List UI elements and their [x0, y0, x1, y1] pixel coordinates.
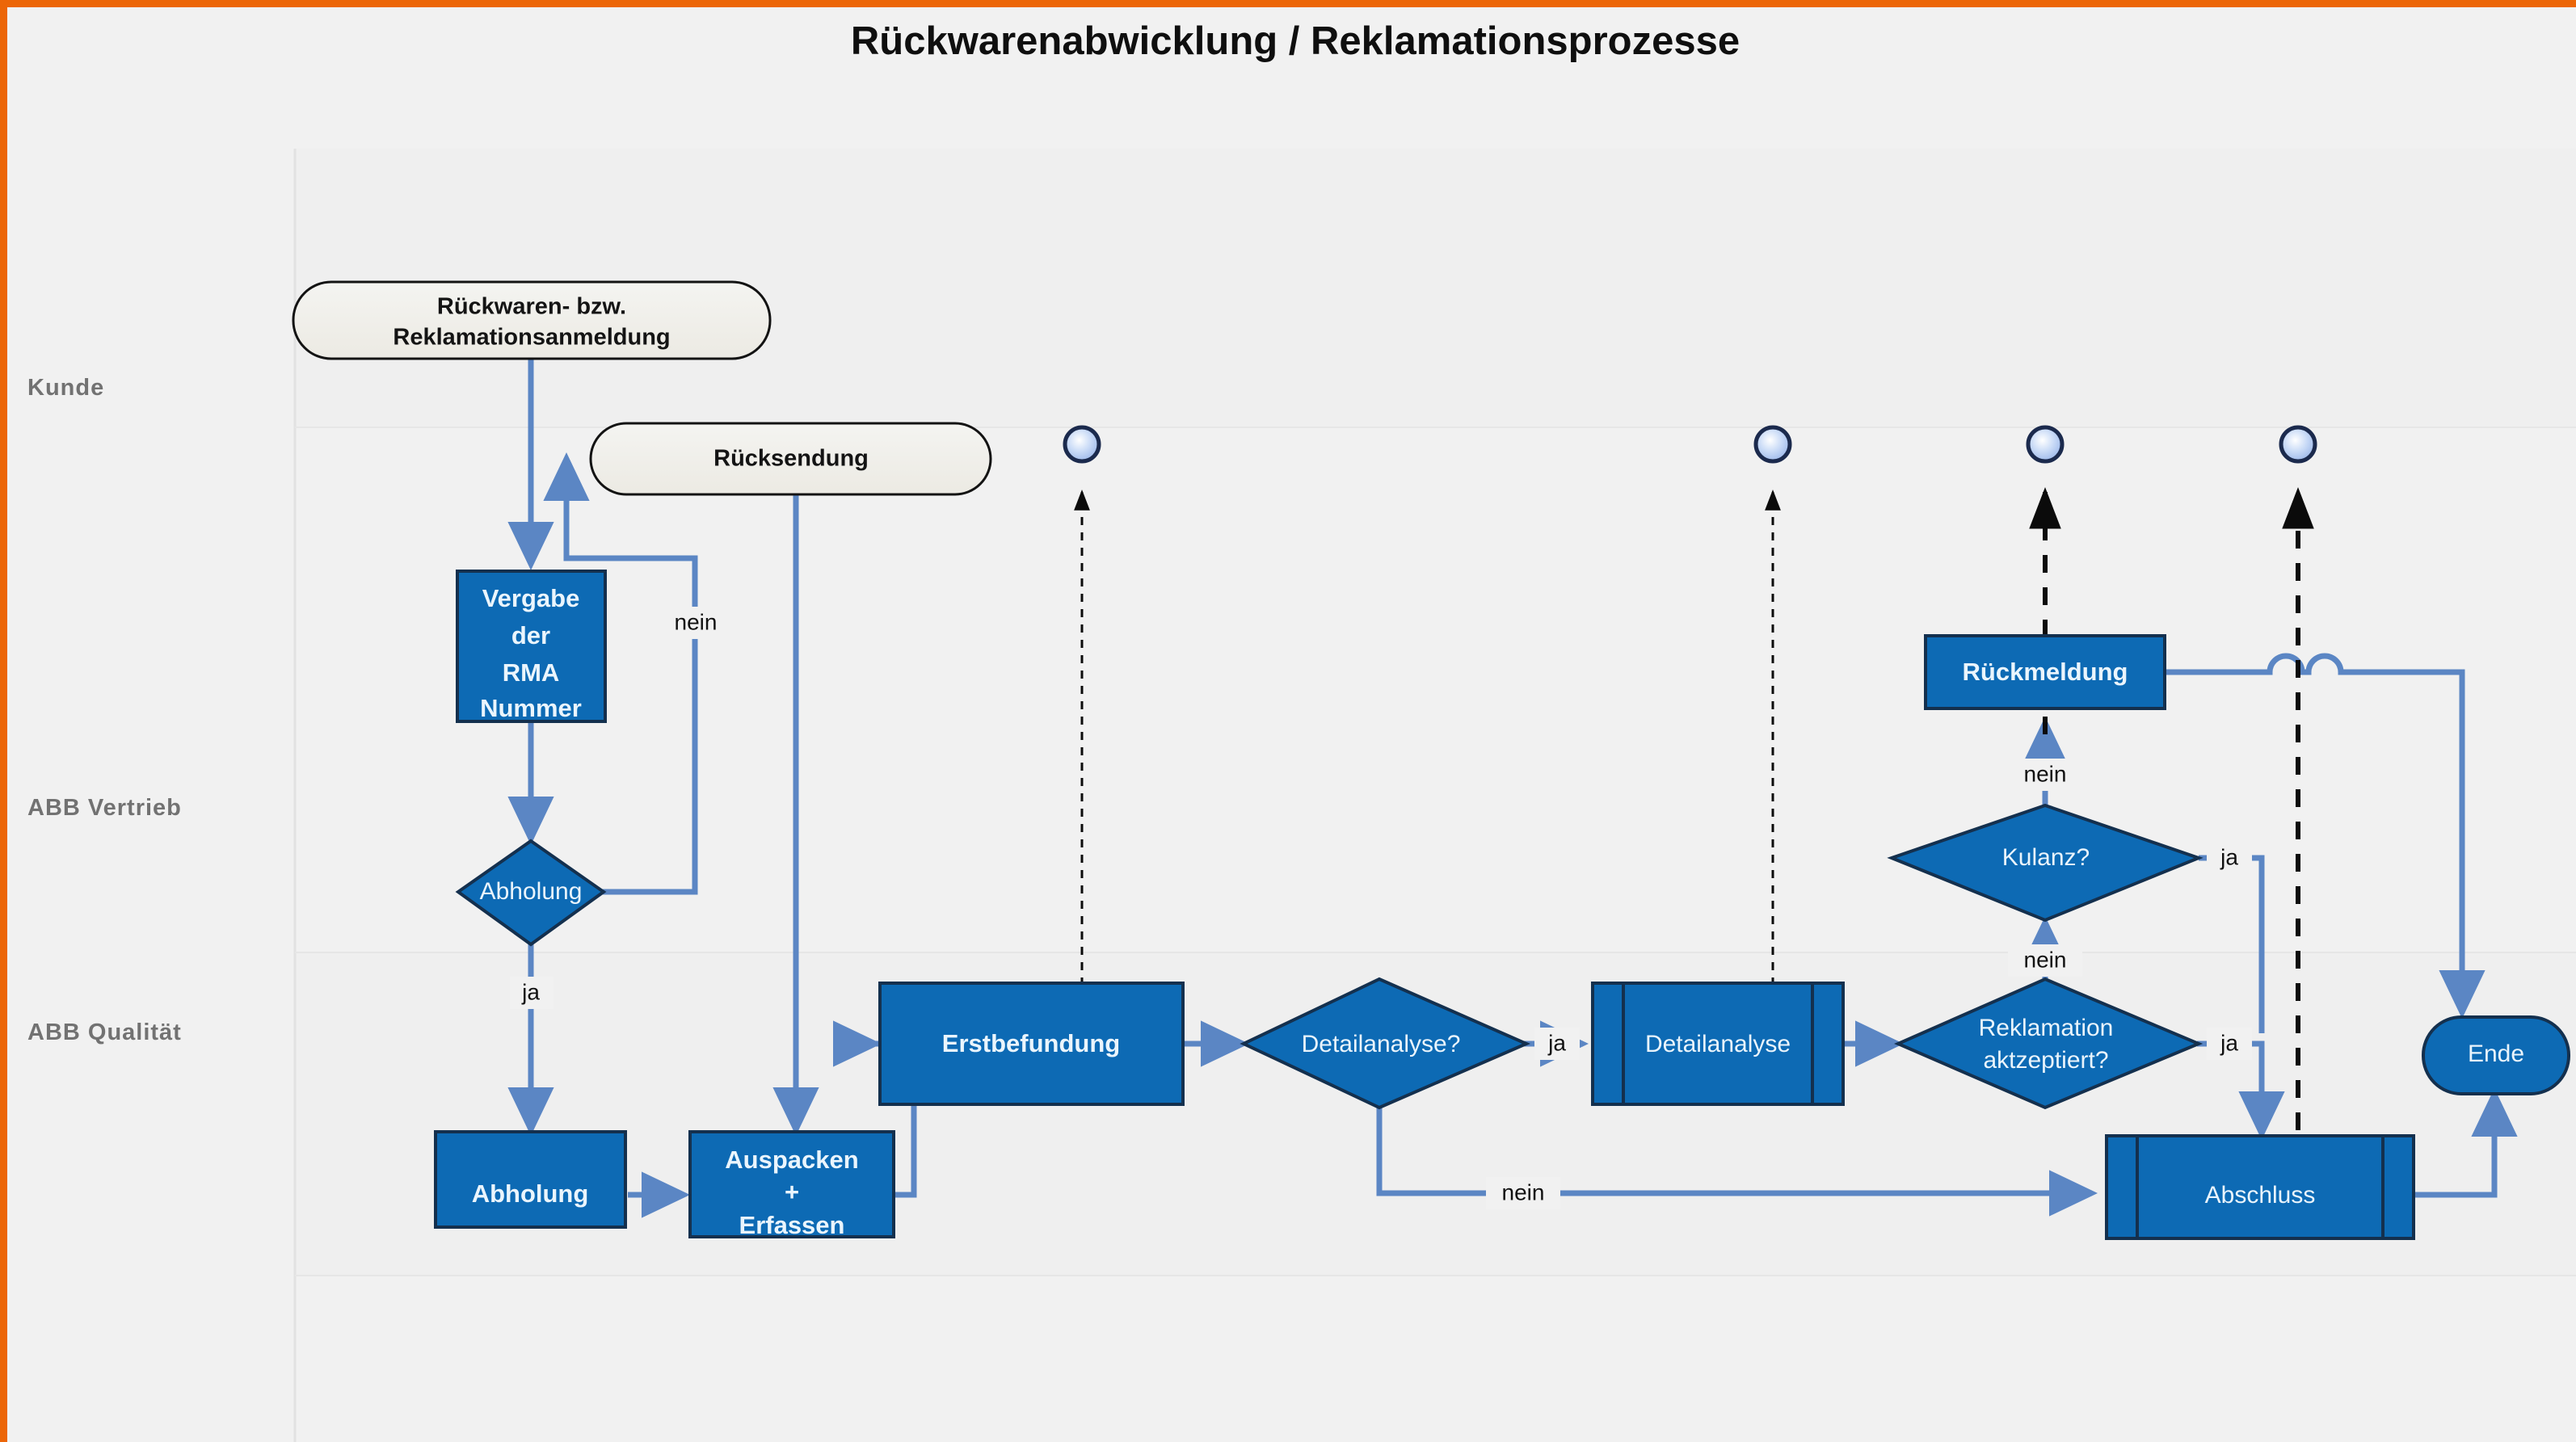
node-abholung-decision-label: Abholung: [480, 878, 583, 905]
node-reklamation-akzeptiert-label-l1: Reklamation: [1979, 1015, 2114, 1041]
edge-label-nein-kulanz: nein: [2024, 761, 2067, 786]
node-ruecksendung[interactable]: Rücksendung: [591, 423, 991, 494]
flowchart-svg: Rückwaren- bzw. Reklamationsanmeldung Rü…: [7, 7, 2576, 1442]
node-auspacken-label-l2: +: [785, 1178, 799, 1206]
node-start-label-line1: Rückwaren- bzw.: [437, 294, 626, 320]
edge-label-ja-abholung: ja: [521, 979, 540, 1004]
edge-label-nein-detailanalyse: nein: [1502, 1179, 1545, 1204]
node-rueckmeldung[interactable]: Rückmeldung: [1926, 636, 2165, 708]
node-ruecksendung-label: Rücksendung: [713, 446, 869, 472]
node-vergabe-rma[interactable]: Vergabe der RMA Nummer: [457, 571, 605, 722]
node-detailanalyse[interactable]: Detailanalyse: [1593, 983, 1843, 1104]
node-erstbefundung[interactable]: Erstbefundung: [880, 983, 1183, 1104]
node-reklamation-akzeptiert-label-l2: aktzeptiert?: [1983, 1047, 2108, 1074]
node-auspacken[interactable]: Auspacken + Erfassen: [690, 1132, 894, 1239]
node-abholung[interactable]: Abholung: [436, 1132, 625, 1227]
node-vergabe-rma-label-l3: RMA: [503, 658, 560, 687]
node-kulanz-label: Kulanz?: [2002, 844, 2090, 871]
node-vergabe-rma-label-l1: Vergabe: [482, 584, 580, 612]
node-vergabe-rma-label-l2: der: [511, 621, 550, 650]
connector-1-circle-icon[interactable]: [1065, 427, 1099, 461]
edge-label-nein-reklamation: nein: [2024, 947, 2067, 972]
edge-label-ja-kulanz: ja: [2220, 844, 2238, 869]
diagram-canvas: Rückwarenabwicklung / Reklamationsprozes…: [0, 0, 2576, 1442]
node-rueckmeldung-label: Rückmeldung: [1963, 658, 2128, 686]
edge-label-ja-detailanalyse: ja: [1547, 1030, 1566, 1055]
connector-4-circle-icon[interactable]: [2281, 427, 2315, 461]
edge-label-nein-abholung: nein: [675, 609, 718, 634]
node-start-label-line2: Reklamationsanmeldung: [393, 325, 670, 351]
node-start[interactable]: Rückwaren- bzw. Reklamationsanmeldung: [293, 282, 770, 359]
node-ende-label: Ende: [2468, 1041, 2524, 1067]
node-auspacken-label-l3: Erfassen: [739, 1211, 845, 1239]
node-erstbefundung-label: Erstbefundung: [942, 1029, 1120, 1057]
connector-3-circle-icon[interactable]: [2028, 427, 2062, 461]
node-detailanalyse-frage-label: Detailanalyse?: [1302, 1031, 1461, 1057]
node-detailanalyse-label: Detailanalyse: [1645, 1031, 1791, 1057]
node-abschluss[interactable]: Abschluss: [2107, 1136, 2414, 1238]
edge-label-ja-reklamation: ja: [2220, 1030, 2238, 1055]
node-auspacken-label-l1: Auspacken: [725, 1146, 858, 1174]
node-abschluss-label: Abschluss: [2205, 1182, 2316, 1209]
connector-2-circle-icon[interactable]: [1756, 427, 1790, 461]
node-ende[interactable]: Ende: [2423, 1017, 2569, 1094]
node-vergabe-rma-label-l4: Nummer: [480, 694, 582, 722]
node-abholung-label: Abholung: [472, 1179, 589, 1208]
